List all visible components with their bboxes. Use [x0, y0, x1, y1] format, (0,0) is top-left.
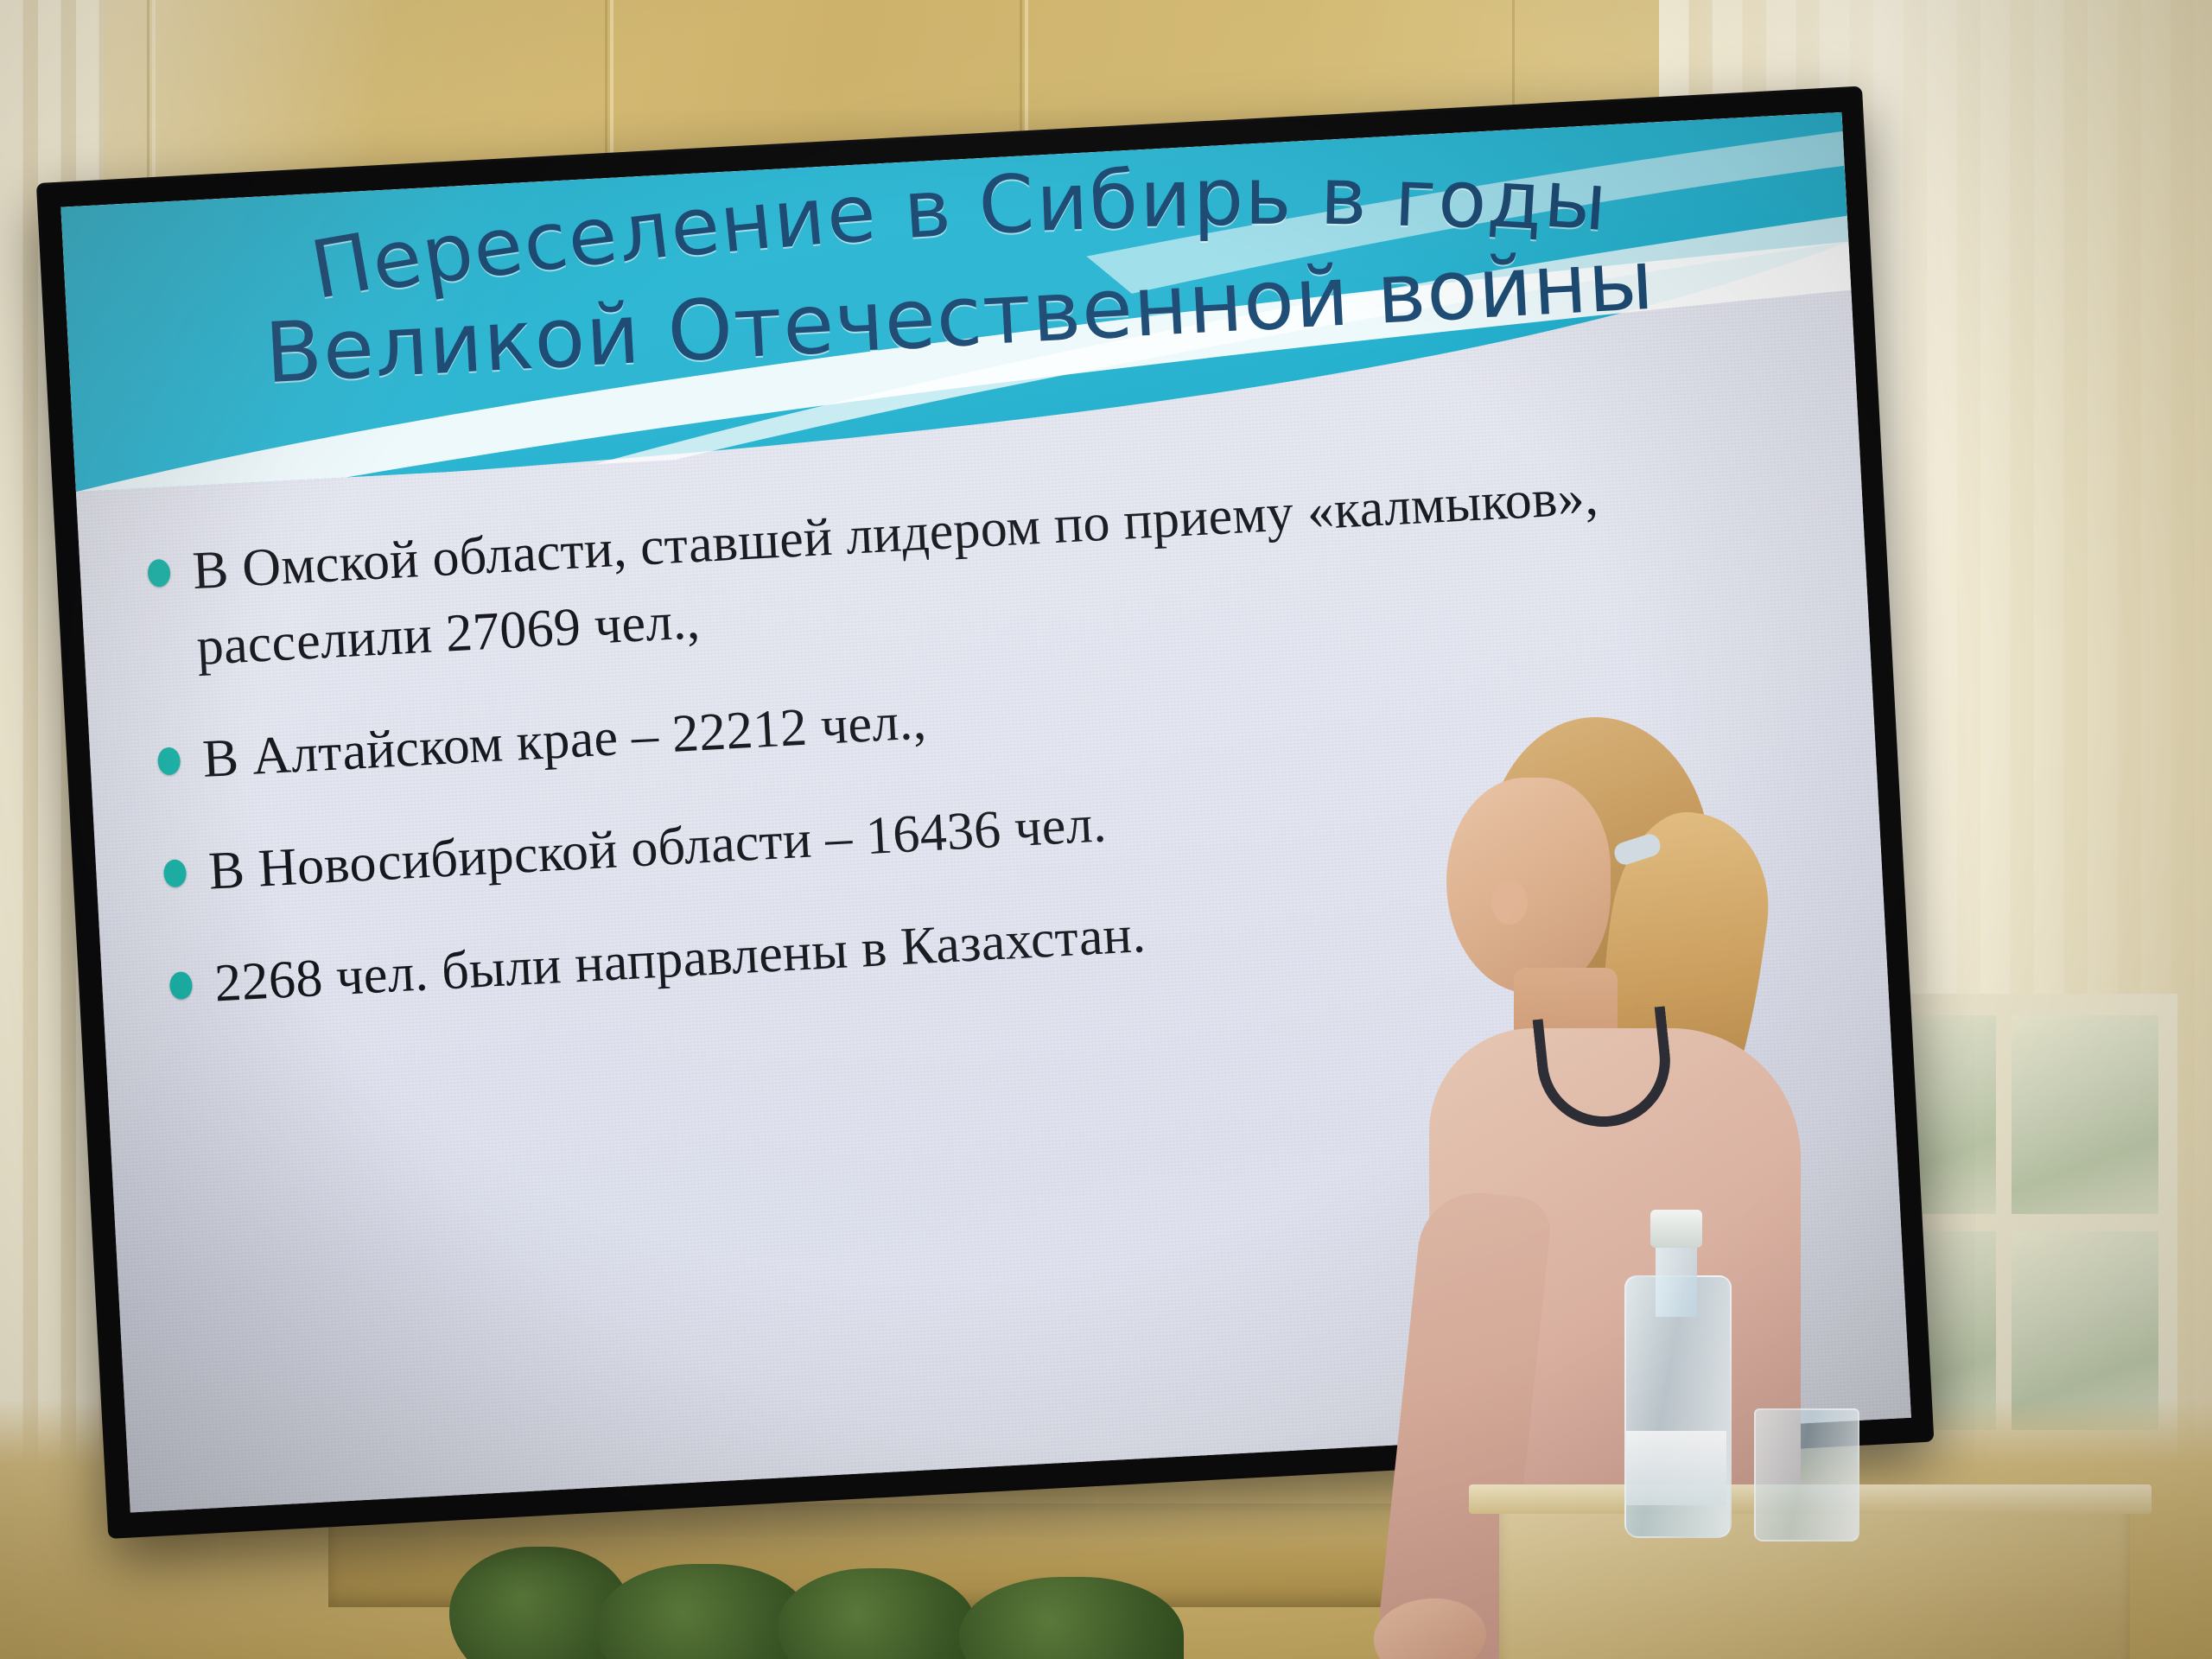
bottle-neck: [1656, 1239, 1697, 1317]
ear: [1491, 880, 1528, 925]
water-bottle: [1624, 1210, 1728, 1538]
bullet-text: В Алтайском крае – 22212 чел.,: [200, 683, 928, 798]
bottle-cap: [1650, 1210, 1702, 1248]
bottle-label: [1626, 1431, 1726, 1505]
bullet-dot-icon: [147, 559, 171, 588]
conference-room-photo: Переселение в Сибирь в годы Великой Отеч…: [0, 0, 2212, 1659]
window-glass-pane: [2012, 1015, 2158, 1214]
bullet-text: 2268 чел. были направлены в Казахстан.: [213, 896, 1147, 1021]
drinking-glass: [1754, 1408, 1859, 1541]
bullet-dot-icon: [163, 859, 188, 887]
bullet-text: В Новосибирской области – 16436 чел.: [207, 785, 1109, 909]
face: [1446, 778, 1611, 994]
bullet-dot-icon: [157, 747, 181, 775]
bullet-dot-icon: [169, 971, 194, 1000]
bullet-text: В Омской области, ставшей лидером по при…: [191, 458, 1614, 685]
